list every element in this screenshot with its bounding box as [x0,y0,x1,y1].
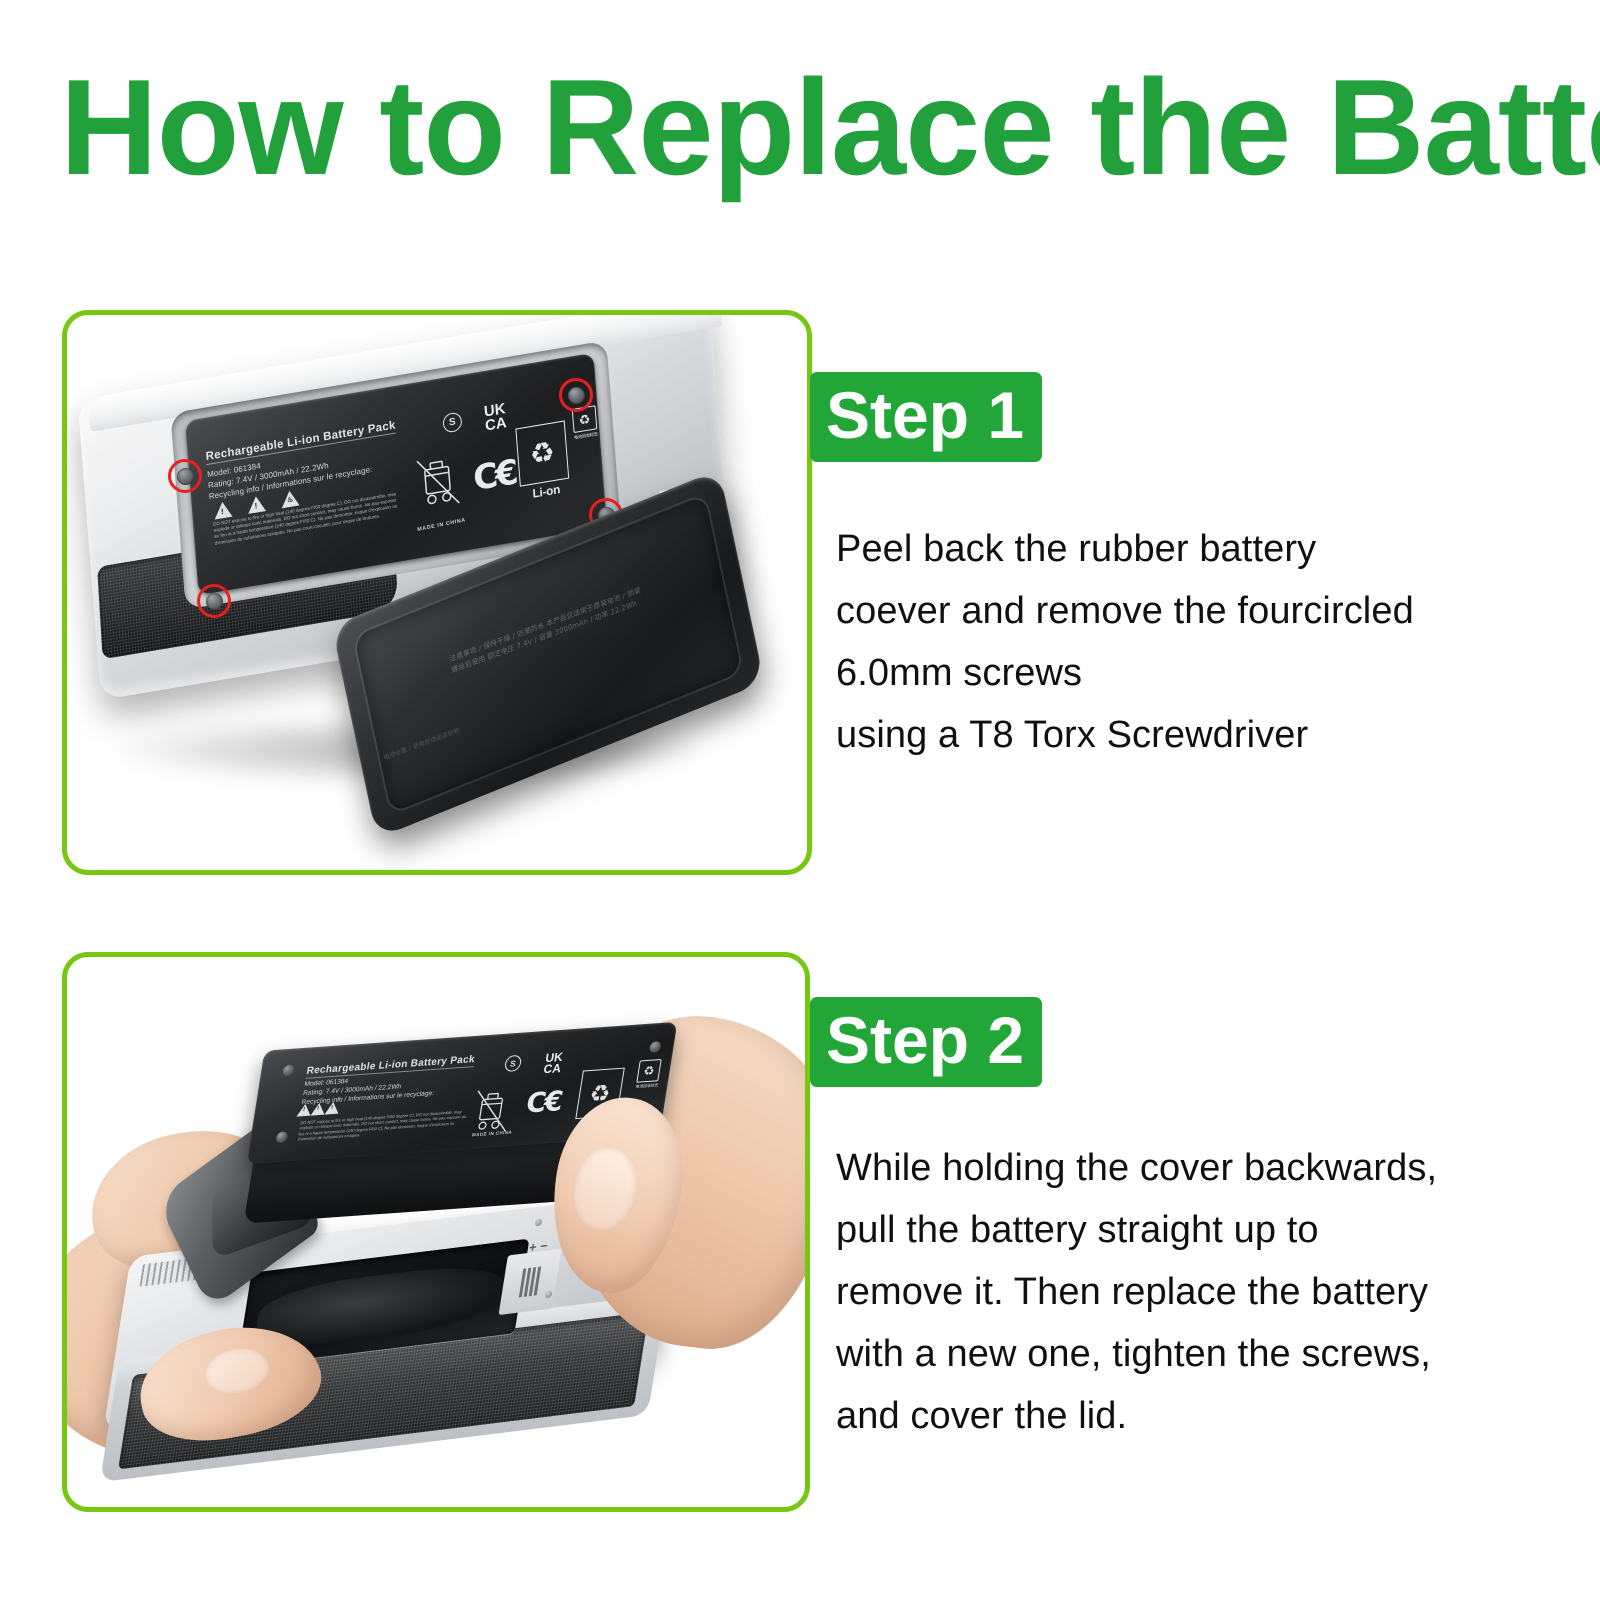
battery-label-title-2: Rechargeable Li-ion Battery Pack [305,1054,475,1079]
china-recycle-icon-2: ♻ 电池回收标志 [635,1059,662,1089]
step-2-photo-frame: + − Rechargeable Li-ion Battery Pack Mod… [62,952,810,1512]
fire-warning-icon [281,489,300,508]
crossed-out-wheelie-bin-icon [416,450,464,517]
battery-label-title: Rechargeable Li-ion Battery Pack [205,419,396,465]
battery-contacts-icon [498,1249,561,1315]
rubber-cover-emboss-small: 电池仓盖 / 使用前请阅读说明 [383,725,460,762]
ce-mark-icon: C€ [472,455,517,496]
no-disassemble-icon [247,495,266,514]
step-1-instructions: Peel back the rubber battery coever and … [836,518,1526,766]
ukca-mark-icon-2: UKCA [543,1052,564,1076]
ukca-mark-icon: UKCA [484,402,508,434]
highlighted-screw-bottom-left [197,584,231,618]
battery-screw-2 [276,1131,289,1143]
step-1-photo-frame: Rechargeable Li-ion Battery Pack Model: … [62,310,812,875]
highlighted-screw-top-right [559,378,593,412]
step-1-badge: Step 1 [810,372,1042,462]
ce-mark-icon-2: C€ [524,1088,563,1118]
step-1-illustration: Rechargeable Li-ion Battery Pack Model: … [67,315,807,870]
china-recycle-caption-2: 电池回收标志 [635,1083,659,1090]
warning-triangle-icon [213,501,232,520]
s-mark-icon-2: S [504,1055,523,1072]
polarity-marks: + − [528,1238,549,1257]
page-title: How to Replace the Battery [60,62,1543,192]
step-2-badge: Step 2 [810,997,1042,1087]
battery-screw-3 [649,1041,662,1053]
china-recycle-caption: 电池回收标志 [574,431,598,441]
li-ion-recycle-icon: ♻ Li-on [515,420,573,511]
highlighted-screw-top-left [168,459,202,493]
step-2-instructions: While holding the cover backwards, pull … [836,1137,1526,1447]
rubber-cover-emboss-text: 注意事项 / 保持干燥 / 防潮防水 本产品仅适用于原装电池 / 锁紧螺丝后使用… [449,583,649,676]
s-mark-icon: S [442,411,462,433]
step-2-illustration: + − Rechargeable Li-ion Battery Pack Mod… [67,957,805,1507]
battery-screw-1 [282,1065,295,1077]
battery-label-made-in: MADE IN CHINA [417,517,466,533]
